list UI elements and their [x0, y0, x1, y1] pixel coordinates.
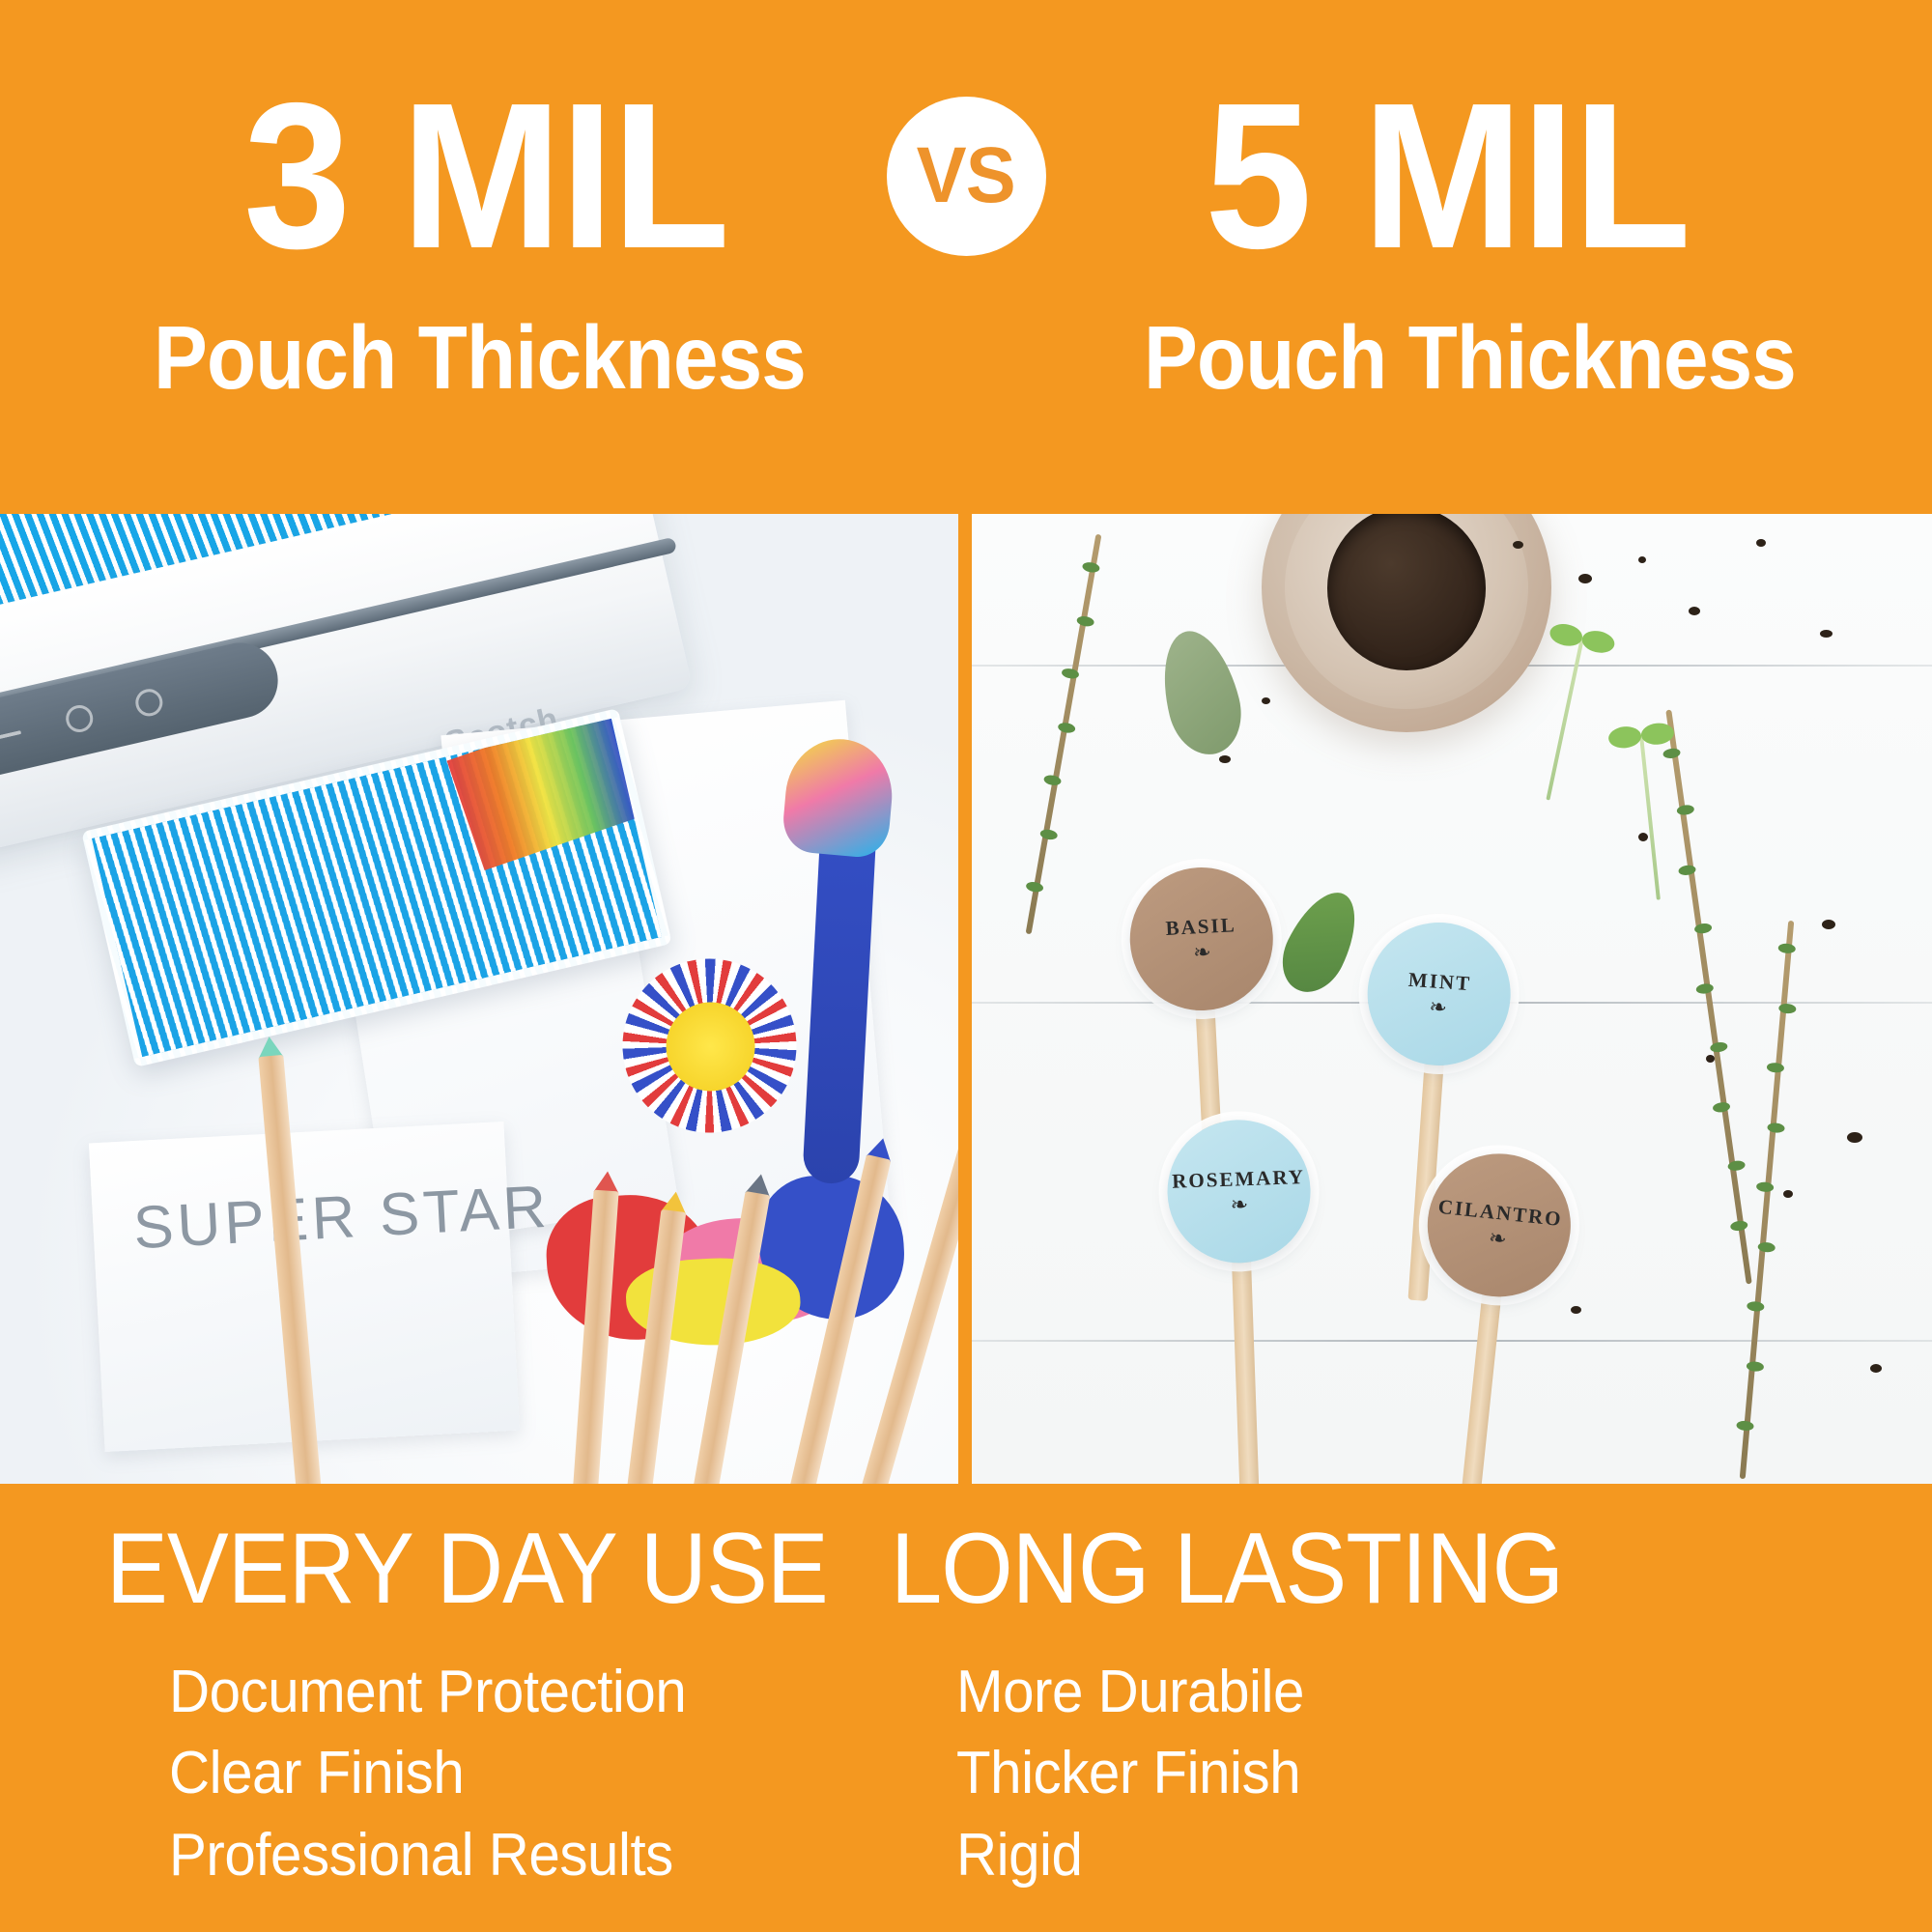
footer-benefit-item: Thicker Finish: [956, 1733, 1304, 1814]
pot-rim: [1285, 514, 1528, 709]
footer-benefit-item: Document Protection: [169, 1652, 686, 1733]
footer-benefit-list-left: Document Protection Clear Finish Profess…: [169, 1652, 719, 1896]
marker-label: BASIL: [1165, 913, 1236, 941]
temperature-indicator-icon: [0, 730, 21, 741]
footer-benefit-item: Professional Results: [169, 1815, 686, 1896]
right-photo-herb-garden-scene: BASIL ❧ MINT ❧ ROSEMARY ❧: [972, 514, 1932, 1484]
footer-heading-long-lasting: LONG LASTING: [891, 1519, 1563, 1619]
footer-benefit-item: More Durabile: [956, 1652, 1304, 1733]
footer-columns: EVERY DAY USE Document Protection Clear …: [0, 1484, 1932, 1932]
wood-plank-seam: [972, 1340, 1932, 1342]
footer-banner: EVERY DAY USE Document Protection Clear …: [0, 1484, 1932, 1932]
footer-heading-every-day-use: EVERY DAY USE: [106, 1519, 828, 1619]
subtitle-row: Pouch Thickness Pouch Thickness: [0, 311, 1932, 437]
vs-badge: VS: [887, 97, 1046, 256]
mode-button-icon: [63, 702, 96, 735]
left-subtitle: Pouch Thickness: [101, 311, 884, 406]
leaf-icon: ❧: [1230, 1194, 1248, 1216]
left-photo-laminator-scene: Scotch SUPER STAR: [0, 514, 958, 1484]
title-row: 3 MIL VS 5 MIL: [0, 60, 1932, 292]
footer-benefit-list-right: More Durabile Thicker Finish Rigid: [956, 1652, 1326, 1896]
right-mil-title: 5 MIL: [1074, 80, 1820, 271]
header-banner: 3 MIL VS 5 MIL Pouch Thickness Pouch Thi…: [0, 0, 1932, 514]
potting-soil: [1327, 514, 1486, 670]
leaf-icon: ❧: [1193, 942, 1212, 964]
leaf-icon: ❧: [1429, 996, 1448, 1018]
footer-benefit-item: Rigid: [956, 1815, 1304, 1896]
photo-band: Scotch SUPER STAR: [0, 514, 1932, 1484]
footer-column-5mil: LONG LASTING More Durabile Thicker Finis…: [966, 1484, 1932, 1932]
infographic-root: 3 MIL VS 5 MIL Pouch Thickness Pouch Thi…: [0, 0, 1932, 1932]
footer-benefit-item: Clear Finish: [169, 1733, 686, 1814]
left-mil-title: 3 MIL: [113, 80, 859, 271]
vs-badge-label: VS: [917, 136, 1015, 215]
marker-label: ROSEMARY: [1172, 1165, 1306, 1194]
marker-label: MINT: [1407, 968, 1472, 996]
release-button-icon: [133, 687, 166, 720]
right-subtitle: Pouch Thickness: [1048, 311, 1831, 406]
footer-column-3mil: EVERY DAY USE Document Protection Clear …: [0, 1484, 966, 1932]
leaf-icon: ❧: [1488, 1227, 1508, 1250]
